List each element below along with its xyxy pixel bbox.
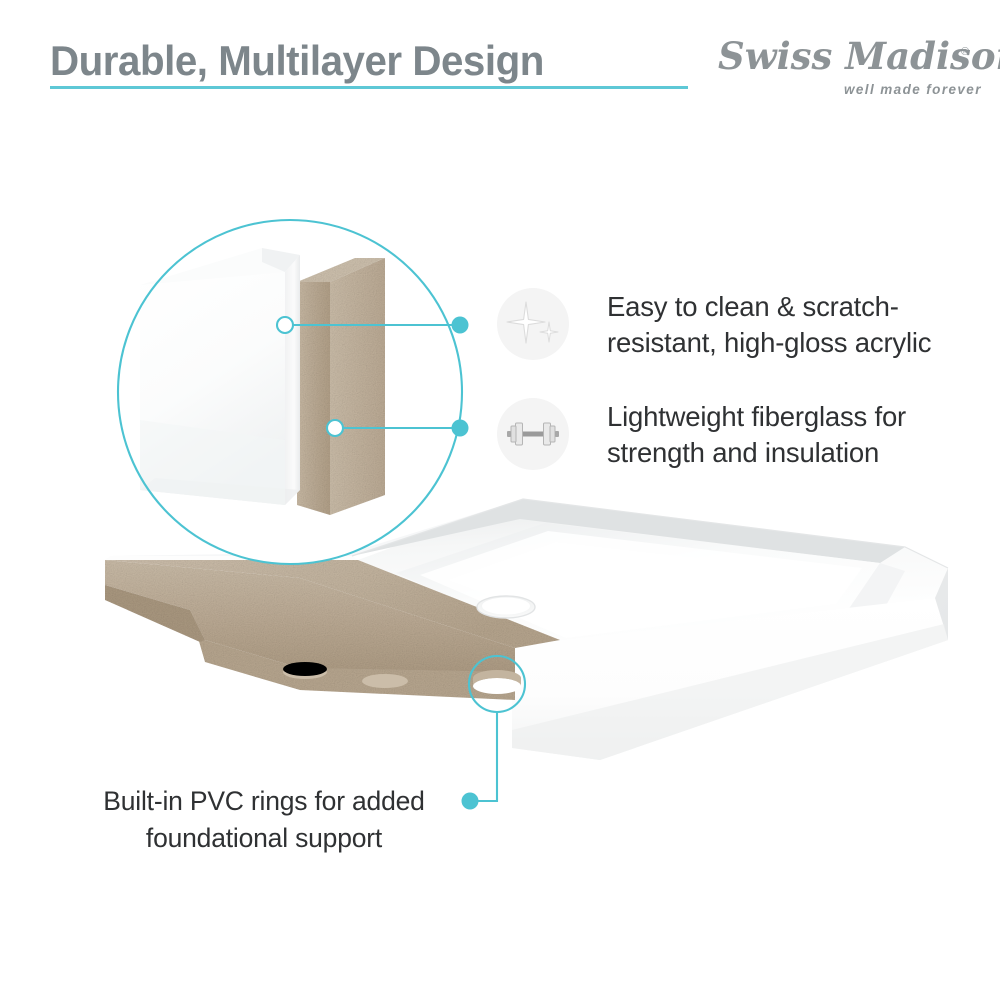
fiberglass-front-face [105, 560, 515, 676]
fiberglass-left-taper [105, 585, 205, 642]
fiberglass-slab-side [330, 258, 385, 515]
feature-label-fiberglass: Lightweight fiberglass for strength and … [607, 399, 906, 471]
dumbbell-cap-right [555, 431, 559, 437]
dumbbell-bar [521, 432, 545, 437]
fiberglass-underlayer [105, 560, 560, 700]
pan-front-face-shadow [512, 624, 948, 760]
pan-inner-right-wall [848, 563, 905, 620]
shower-base-group [105, 499, 948, 760]
pan-front-face-main [512, 598, 948, 760]
dumbbell-cap-left [507, 431, 511, 437]
pan-rim-top [358, 500, 948, 640]
pan-top-outline [352, 499, 948, 568]
callout-dot-fiberglass [452, 420, 469, 437]
drain-opening-inner [482, 598, 530, 615]
pvc-ring-1 [283, 665, 327, 679]
callout-marker-fiberglass [327, 420, 343, 436]
acrylic-slab-bottom [140, 478, 300, 505]
pvc-ring-2 [362, 674, 408, 688]
infographic-page: Durable, Multilayer Design Swiss Madison… [0, 0, 1000, 1000]
fiberglass-slab-top [297, 258, 385, 282]
pan-right-face [600, 568, 948, 760]
fiberglass-top-strip [105, 560, 560, 648]
acrylic-slab-face-shade [140, 420, 285, 505]
acrylic-skin-top [110, 499, 523, 556]
pan-basin-shading [420, 531, 862, 638]
sparkle-large [507, 302, 545, 343]
callout-marker-acrylic [277, 317, 293, 333]
pvc-ring-3-lip [473, 670, 521, 686]
dumbbell-plate-left-outer [511, 426, 516, 442]
pvc-rings-caption: Built-in PVC rings for added foundationa… [78, 783, 450, 857]
pan-back-ledge [352, 499, 905, 563]
brand-name: Swiss Madison [718, 34, 1000, 78]
brand-tagline: well made forever [844, 82, 982, 97]
sparkle-icon [497, 288, 569, 360]
drain-rim-shadow [477, 596, 535, 618]
acrylic-skin-edge [105, 556, 358, 560]
callout-marker-pvc [469, 656, 525, 712]
page-title-block: Durable, Multilayer Design [50, 33, 690, 93]
acrylic-slab-edge-top [262, 248, 300, 272]
callout-dot-acrylic [452, 317, 469, 334]
callout-line-pvc [478, 712, 497, 801]
callout-lines [277, 317, 525, 810]
fiberglass-lower-band [190, 610, 515, 700]
page-title: Durable, Multilayer Design [50, 33, 544, 89]
dumbbell-icon [497, 398, 569, 470]
pan-front-face [515, 648, 600, 760]
brand-logo: Swiss Madison ® well made forever [718, 34, 976, 104]
feature-label-acrylic: Easy to clean & scratch- resistant, high… [607, 289, 931, 361]
acrylic-slab-right-edge [285, 255, 300, 505]
callout-dot-pvc [462, 793, 479, 810]
acrylic-slab-top [140, 248, 300, 292]
dumbbell-plate-right-inner [544, 423, 551, 445]
dumbbell-plate-right-outer [550, 426, 555, 442]
pan-basin-floor [396, 523, 880, 645]
feature-item-acrylic: Easy to clean & scratch- resistant, high… [497, 288, 931, 361]
layer-cross-section [140, 248, 385, 515]
magnifier-mask [118, 220, 462, 564]
magnifier-ring [118, 220, 462, 564]
pan-basin-highlight [448, 542, 838, 627]
pvc-ring-3 [473, 678, 521, 694]
sparkle-small [540, 322, 558, 342]
registered-mark-icon: ® [961, 46, 969, 58]
dumbbell-plate-left-inner [516, 423, 523, 445]
pvc-ring-1-shadow [283, 662, 327, 676]
feature-item-fiberglass: Lightweight fiberglass for strength and … [497, 398, 906, 471]
acrylic-slab-face [140, 272, 285, 505]
drain-opening [477, 596, 535, 618]
fiberglass-slab-face [297, 282, 330, 515]
magnifier-group [118, 220, 462, 564]
